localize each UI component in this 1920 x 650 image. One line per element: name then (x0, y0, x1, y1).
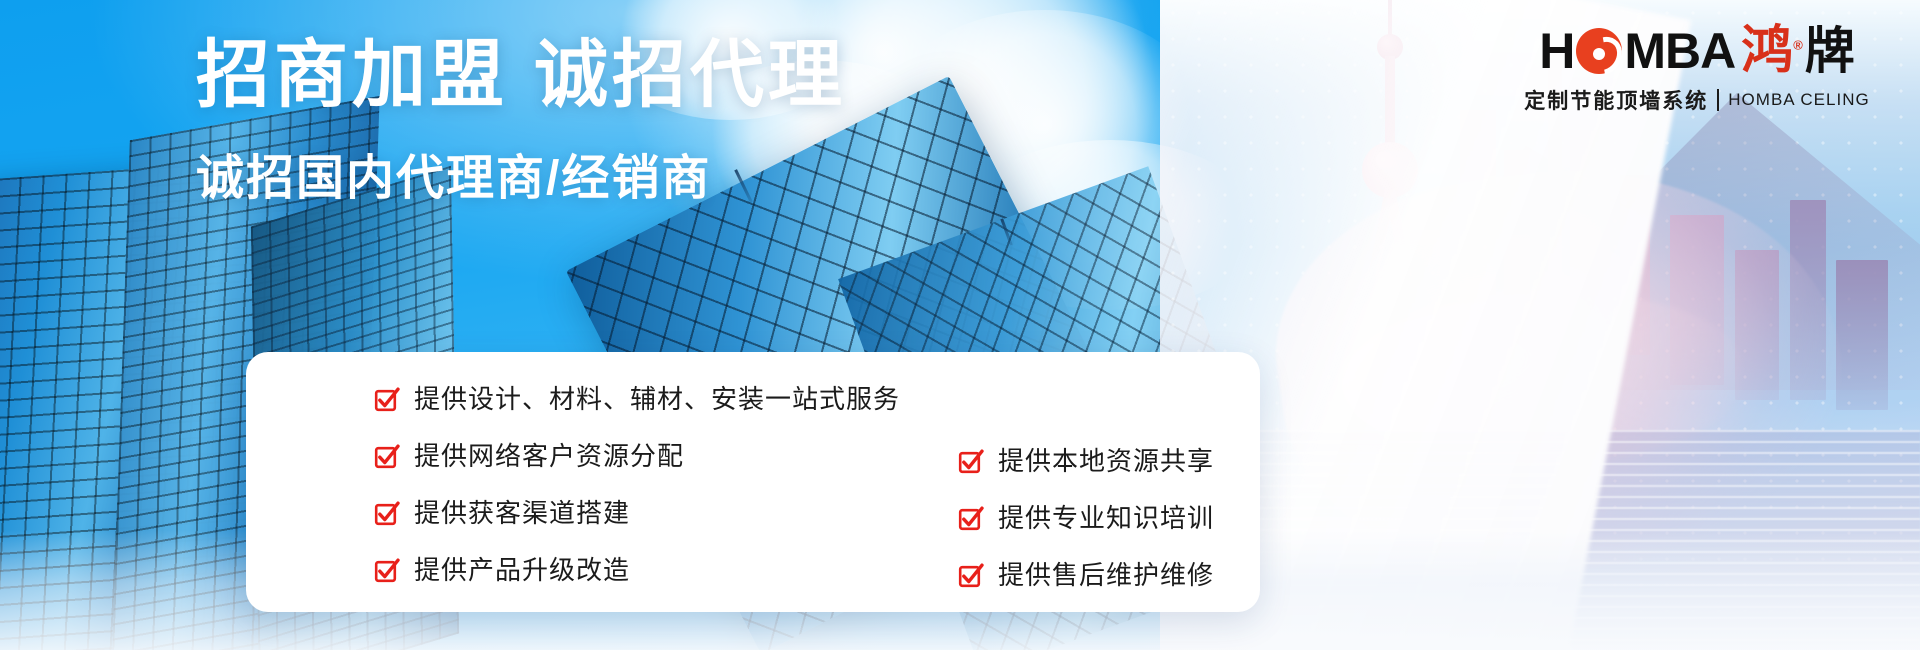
list-item: 提供本地资源共享 (958, 448, 1358, 474)
list-item: 提供专业知识培训 (958, 505, 1358, 531)
feature-list-right: 提供本地资源共享 提供专业知识培训 提供售后维护维修 (958, 448, 1358, 588)
logo-letter-h: H (1539, 26, 1574, 76)
list-item: 提供设计、材料、辅材、安装一站式服务 (374, 386, 894, 412)
feature-card: 提供设计、材料、辅材、安装一站式服务 提供网络客户资源分配 提供获客渠道搭建 (246, 352, 1260, 612)
feature-label: 提供网络客户资源分配 (414, 443, 684, 469)
checkbox-checked-icon (374, 557, 400, 583)
logo-wordmark: H MBA 鸿® 牌 (1502, 22, 1892, 80)
checkbox-checked-icon (958, 562, 984, 588)
checkbox-checked-icon (958, 505, 984, 531)
feature-label: 提供产品升级改造 (414, 557, 630, 583)
feature-list-left: 提供设计、材料、辅材、安装一站式服务 提供网络客户资源分配 提供获客渠道搭建 (374, 386, 894, 583)
checkbox-checked-icon (374, 386, 400, 412)
logo-tagline: 定制节能顶墙系统 HOMBA CELING (1502, 85, 1892, 115)
logo-chinese-hong: 鸿® (1741, 25, 1803, 77)
checkbox-checked-icon (958, 448, 984, 474)
feature-label: 提供获客渠道搭建 (414, 500, 630, 526)
checkbox-checked-icon (374, 443, 400, 469)
registered-trademark-icon: ® (1793, 38, 1803, 53)
list-item: 提供产品升级改造 (374, 557, 894, 583)
logo-tagline-en: HOMBA CELING (1728, 90, 1869, 110)
tagline-divider (1717, 89, 1719, 111)
headline-primary: 招商加盟 (196, 33, 508, 116)
logo-letters-mba: MBA (1624, 26, 1735, 76)
list-item: 提供获客渠道搭建 (374, 500, 894, 526)
logo-chinese-pai: 牌 (1805, 26, 1855, 76)
page-title: 招商加盟诚招代理 (196, 36, 846, 114)
list-item: 提供售后维护维修 (958, 562, 1358, 588)
logo-tagline-cn: 定制节能顶墙系统 (1524, 85, 1708, 115)
flame-circle-icon (1576, 28, 1622, 74)
feature-label: 提供本地资源共享 (998, 448, 1214, 474)
feature-label: 提供专业知识培训 (998, 505, 1214, 531)
headline-secondary: 诚招代理 (534, 33, 846, 116)
skyline-building (1836, 260, 1888, 410)
page-subtitle: 诚招国内代理商/经销商 (196, 138, 711, 208)
checkbox-checked-icon (374, 500, 400, 526)
feature-label: 提供设计、材料、辅材、安装一站式服务 (414, 386, 900, 412)
brand-logo[interactable]: H MBA 鸿® 牌 定制节能顶墙系统 HOMBA CELING (1502, 22, 1892, 115)
list-item: 提供网络客户资源分配 (374, 443, 894, 469)
promo-banner: 招商加盟诚招代理 诚招国内代理商/经销商 H MBA 鸿® 牌 定制节能顶墙系统… (0, 0, 1920, 650)
feature-label: 提供售后维护维修 (998, 562, 1214, 588)
